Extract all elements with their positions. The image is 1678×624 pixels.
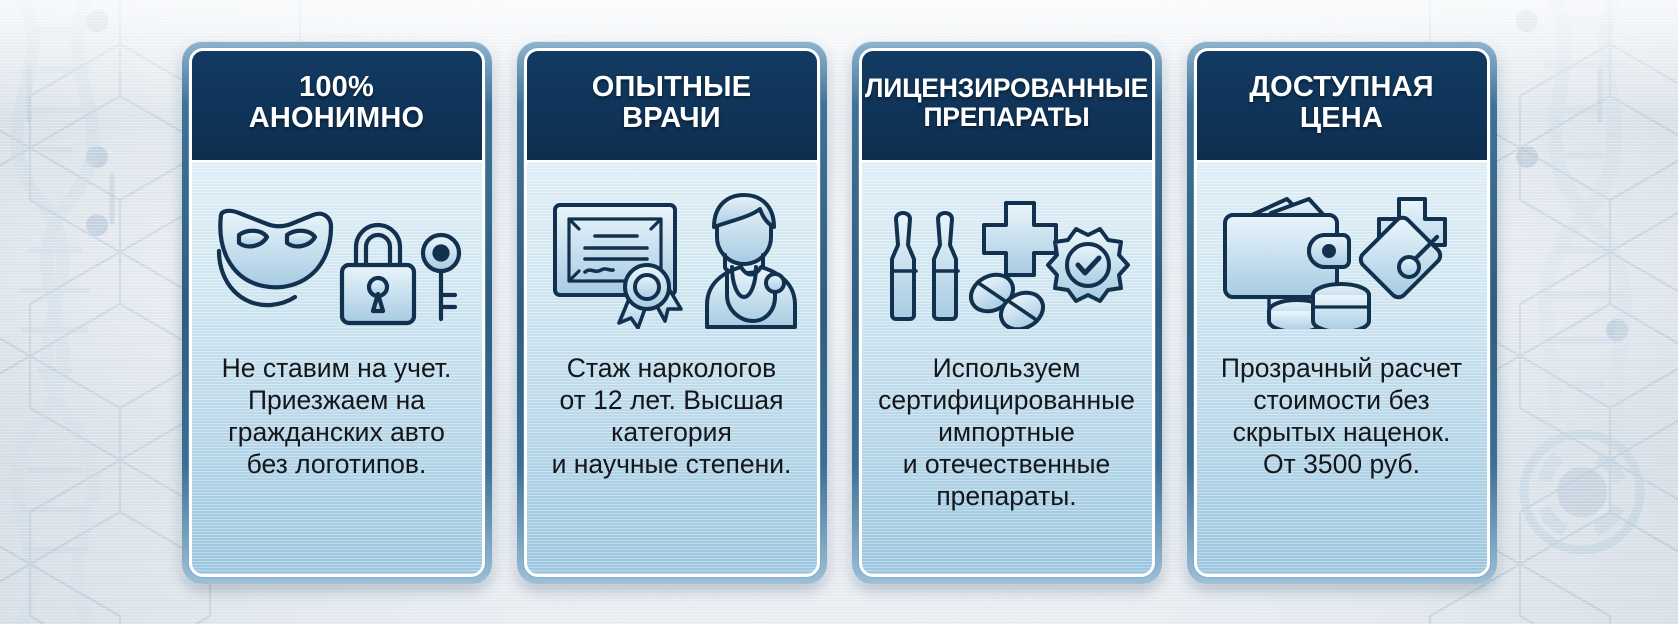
card-description: Стаж наркологов от 12 лет. Высшая катего… xyxy=(527,352,817,574)
card-licensed-drugs[interactable]: ЛИЦЕНЗИРОВАННЫЕ ПРЕПАРАТЫ xyxy=(852,41,1162,584)
card-affordable-price[interactable]: ДОСТУПНАЯ ЦЕНА xyxy=(1187,41,1497,584)
card-anonymity[interactable]: 100% АНОНИМНО xyxy=(182,41,492,584)
feature-cards-row: 100% АНОНИМНО xyxy=(0,0,1678,624)
diploma-doctor-icon xyxy=(527,162,817,352)
mask-lock-key-icon xyxy=(192,162,482,352)
card-header-anonymity: 100% АНОНИМНО xyxy=(192,51,482,162)
card-description: Не ставим на учет. Приезжаем на гражданс… xyxy=(192,352,482,574)
card-title: ДОСТУПНАЯ ЦЕНА xyxy=(1249,72,1434,135)
card-description: Прозрачный расчет стоимости без скрытых … xyxy=(1197,352,1487,574)
card-description: Используем сертифицированные импортные и… xyxy=(862,352,1152,574)
card-title: ЛИЦЕНЗИРОВАННЫЕ ПРЕПАРАТЫ xyxy=(865,74,1148,131)
ampoules-pills-cross-badge-icon xyxy=(862,162,1152,352)
card-header-licensed-drugs: ЛИЦЕНЗИРОВАННЫЕ ПРЕПАРАТЫ xyxy=(862,51,1152,162)
card-experienced-doctors[interactable]: ОПЫТНЫЕ ВРАЧИ xyxy=(517,41,827,584)
card-header-affordable-price: ДОСТУПНАЯ ЦЕНА xyxy=(1197,51,1487,162)
card-title: ОПЫТНЫЕ ВРАЧИ xyxy=(592,72,752,135)
card-title: 100% АНОНИМНО xyxy=(249,72,425,135)
wallet-coins-cross-tag-icon xyxy=(1197,162,1487,352)
card-header-experienced-doctors: ОПЫТНЫЕ ВРАЧИ xyxy=(527,51,817,162)
